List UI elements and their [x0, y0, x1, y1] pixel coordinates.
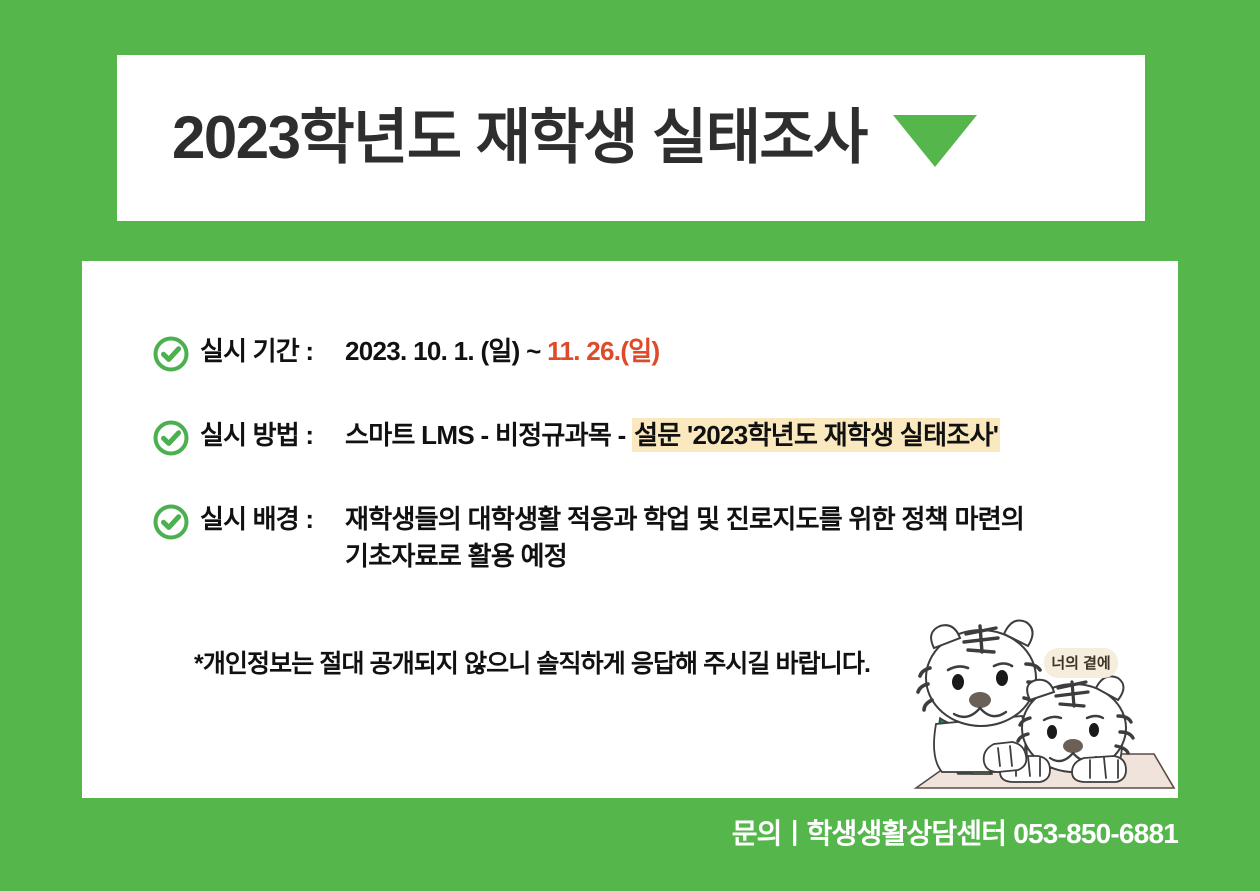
title-inner: 2023학년도 재학생 실태조사: [172, 55, 977, 221]
info-row-label-period: 실시 기간 :: [200, 333, 345, 370]
check-circle-icon: [152, 419, 190, 457]
privacy-note: *개인정보는 절대 공개되지 않으니 솔직하게 응답해 주시길 바랍니다.: [194, 644, 870, 680]
period-start-text: 2023. 10. 1. (일) ~: [345, 336, 547, 366]
main-content-card: 실시 기간 : 2023. 10. 1. (일) ~ 11. 26.(일) 실시…: [82, 261, 1178, 798]
footer-contact: 문의ㅣ학생생활상담센터 053-850-6881: [732, 812, 1178, 852]
method-path-text: 스마트 LMS - 비정규과목 -: [345, 420, 632, 450]
info-row-background: 실시 배경 : 재학생들의 대학생활 적응과 학업 및 진로지도를 위한 정책 …: [152, 501, 1158, 575]
triangle-down-icon: [893, 115, 977, 167]
info-row-label-method: 실시 방법 :: [200, 417, 345, 454]
method-survey-name-text: 설문 '2023학년도 재학생 실태조사': [632, 418, 1000, 452]
info-row-period: 실시 기간 : 2023. 10. 1. (일) ~ 11. 26.(일): [152, 333, 1158, 373]
info-row-label-background: 실시 배경 :: [200, 501, 345, 538]
page-title: 2023학년도 재학생 실태조사: [172, 108, 867, 168]
background-line-2: 기초자료로 활용 예정: [345, 538, 1024, 575]
info-row-value-period: 2023. 10. 1. (일) ~ 11. 26.(일): [345, 333, 659, 370]
info-row-method: 실시 방법 : 스마트 LMS - 비정규과목 - 설문 '2023학년도 재학…: [152, 417, 1158, 457]
title-bar: 2023학년도 재학생 실태조사: [117, 55, 1145, 221]
info-row-value-background: 재학생들의 대학생활 적응과 학업 및 진로지도를 위한 정책 마련의 기초자료…: [345, 501, 1024, 575]
check-circle-icon: [152, 503, 190, 541]
mascot-speech-text: 너의 곁에: [1051, 654, 1110, 672]
period-end-text: 11. 26.(일): [547, 336, 659, 366]
info-rows: 실시 기간 : 2023. 10. 1. (일) ~ 11. 26.(일) 실시…: [152, 333, 1158, 575]
check-circle-icon: [152, 335, 190, 373]
tiger-mascot-illustration: 너의 곁에: [906, 606, 1178, 798]
info-row-value-method: 스마트 LMS - 비정규과목 - 설문 '2023학년도 재학생 실태조사': [345, 417, 1000, 454]
background-line-1: 재학생들의 대학생활 적응과 학업 및 진로지도를 위한 정책 마련의: [345, 504, 1024, 534]
